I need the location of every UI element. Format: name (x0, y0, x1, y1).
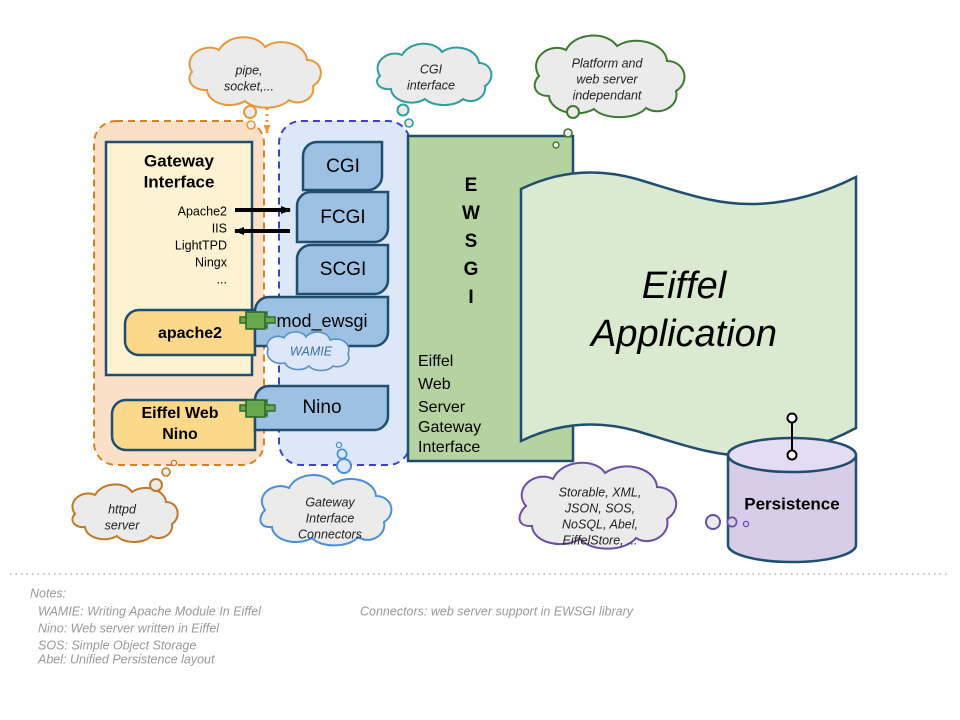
ewsgi-expansion-line-5: Interface (418, 439, 480, 456)
cloud-tail-bubble-small (564, 129, 572, 137)
ewsgi-letter-w: W (462, 203, 480, 224)
server-list-item-iis: IIS (212, 221, 227, 235)
cloud-tail-bubble-large (706, 515, 720, 529)
notes-item-abel: Abel: Unified Persistence layout (37, 652, 215, 666)
cloud-tail-bubble-large (567, 106, 579, 118)
cloud-tail-bubble-large (244, 106, 256, 118)
cloud-persistence-line-2: JSON, SOS, (564, 501, 635, 515)
cloud-pipe-socket-line-2: socket,... (224, 79, 274, 93)
cloud-cgi-interface-line-2: interface (407, 78, 455, 92)
diagram-canvas: Gateway Interface Apache2 IIS LightTPD N… (0, 0, 960, 720)
server-list-item-ellipsis: ... (217, 272, 227, 286)
apache2-label: apache2 (158, 325, 222, 342)
notes-item-wamie: WAMIE: Writing Apache Module In Eiffel (38, 604, 262, 618)
cloud-tail-bubble-tiny (336, 442, 341, 447)
cloud-tail-bubble-small (405, 119, 413, 127)
connector-label-scgi: SCGI (320, 259, 366, 280)
cloud-persistence-tech: Storable, XML, JSON, SOS, NoSQL, Abel, E… (520, 463, 749, 549)
cloud-tail-bubble-large (398, 105, 409, 116)
cloud-platform-line-3: independant (573, 88, 642, 102)
cloud-httpd-line-2: server (105, 518, 141, 532)
cloud-tail-bubble-large (150, 479, 162, 491)
notes-item-connectors: Connectors: web server support in EWSGI … (360, 604, 634, 618)
cloud-tail-bubble-small (337, 449, 346, 458)
cloud-platform-line-2: web server (576, 72, 638, 86)
architecture-diagram: Gateway Interface Apache2 IIS LightTPD N… (0, 0, 960, 720)
eiffel-web-nino-label-line-1: Eiffel Web (141, 405, 218, 422)
connector-label-nino: Nino (302, 397, 341, 418)
wamie-cloud-label: WAMIE (290, 344, 333, 358)
cloud-platform-line-1: Platform and (572, 56, 644, 70)
eiffel-application-label-line-1: Eiffel (642, 265, 728, 307)
cloud-tail-bubble-large (337, 459, 351, 473)
cloud-tail-bubble-small (162, 468, 170, 476)
cloud-httpd-server: httpd server (72, 460, 177, 542)
ewsgi-expansion-line-2: Web (418, 376, 451, 393)
server-list-item-ningx: Ningx (195, 255, 228, 269)
server-list-item-apache2: Apache2 (178, 204, 227, 218)
connector-label-fcgi: FCGI (320, 207, 365, 228)
ewsgi-expansion-line-4: Gateway (418, 419, 481, 436)
cloud-cgi-interface-line-1: CGI (420, 62, 443, 76)
eiffel-web-nino-label-line-2: Nino (162, 426, 198, 443)
ewsgi-letter-g: G (464, 259, 479, 280)
connector-label-mod-ewsgi: mod_ewsgi (276, 311, 367, 332)
ewsgi-expansion-line-3: Server (418, 399, 466, 416)
cloud-tail-bubble-tiny (743, 521, 748, 526)
ewsgi-expansion-line-1: Eiffel (418, 353, 453, 370)
cloud-platform-independent: Platform and web server independant (535, 36, 685, 148)
ewsgi-letter-i: I (468, 287, 473, 308)
notes-item-nino: Nino: Web server written in Eiffel (38, 621, 220, 635)
persistence-label: Persistence (744, 494, 839, 513)
cloud-gw-connectors-line-2: Interface (306, 511, 355, 525)
cloud-persistence-line-1: Storable, XML, (559, 485, 642, 499)
notes-item-sos: SOS: Simple Object Storage (38, 638, 196, 652)
cloud-httpd-line-1: httpd (108, 502, 137, 516)
cloud-gw-connectors-line-3: Connectors (298, 527, 362, 541)
cloud-persistence-line-4: EiffelStore, ... (562, 533, 637, 547)
ewsgi-letter-e: E (465, 175, 478, 196)
ewsgi-letter-s: S (465, 231, 478, 252)
server-list-item-lighttpd: LightTPD (175, 238, 227, 252)
gateway-interface-title-line-1: Gateway (144, 151, 214, 170)
cloud-gw-connectors-line-1: Gateway (305, 495, 355, 509)
cloud-tail-bubble-tiny (171, 460, 176, 465)
gateway-interface-title-line-2: Interface (144, 172, 215, 191)
cloud-tail-bubble-small (727, 517, 736, 526)
cloud-tail-bubble-small (247, 121, 255, 129)
cloud-pipe-socket: pipe, socket,... (189, 37, 320, 129)
cloud-cgi-interface: CGI interface (377, 44, 491, 127)
notes-heading: Notes: (30, 586, 66, 600)
eiffel-application-label-line-2: Application (589, 313, 777, 355)
cloud-persistence-line-3: NoSQL, Abel, (562, 517, 638, 531)
connector-label-cgi: CGI (326, 156, 360, 177)
cloud-pipe-socket-line-1: pipe, (234, 63, 262, 77)
cloud-tail-bubble-tiny (553, 142, 559, 148)
